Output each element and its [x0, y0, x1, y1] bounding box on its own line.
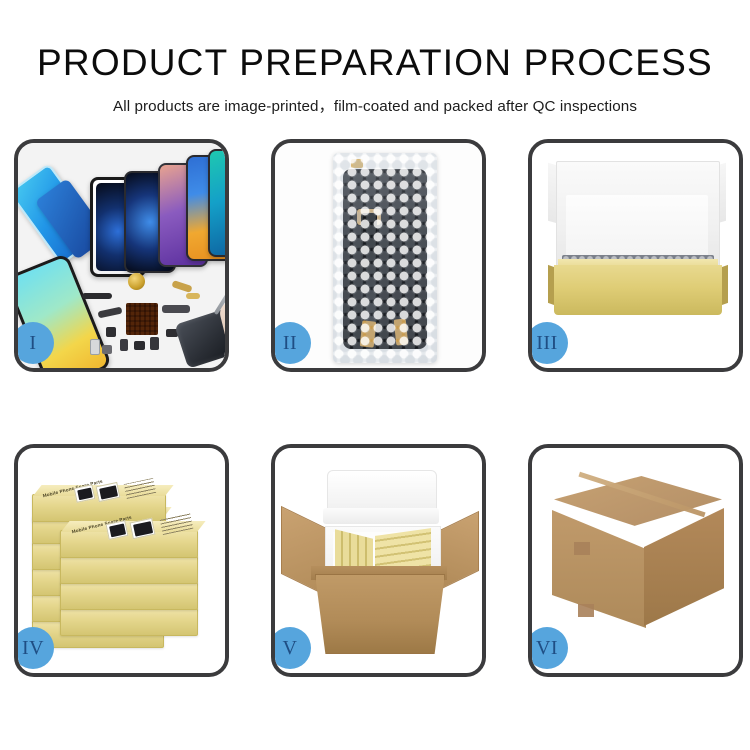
- carton-tape-upper: [574, 542, 590, 555]
- gold-component-icon: [128, 273, 145, 290]
- box-window-2: [96, 482, 121, 502]
- box-window-1: [74, 484, 96, 503]
- process-step-1[interactable]: I: [14, 139, 229, 372]
- step-badge-1: I: [14, 322, 54, 364]
- spare-parts-cluster: [76, 271, 225, 368]
- small-part-6-icon: [102, 345, 112, 354]
- gold-flex-2-icon: [186, 293, 200, 299]
- process-step-5[interactable]: V: [271, 444, 486, 677]
- gold-tab-2-icon: [394, 318, 409, 345]
- small-part-3-icon: [134, 341, 145, 350]
- process-step-2[interactable]: II: [271, 139, 486, 372]
- carton-front-face: [552, 510, 646, 628]
- small-part-1-icon: [106, 327, 116, 337]
- gold-tab-1-icon: [360, 320, 377, 347]
- phone-backplate-icon: [174, 307, 225, 368]
- label-tag-icon: [351, 159, 363, 168]
- foam-lid-edge: [323, 508, 439, 524]
- header: PRODUCT PREPARATION PROCESS All products…: [0, 0, 750, 116]
- stack-box-top-right: Mobile Phone Spare Parts: [60, 530, 198, 558]
- teal-phone-icon: [208, 149, 225, 257]
- stack-box-top-left: Mobile Phone Spare Parts: [32, 494, 166, 522]
- flex-cable-2-icon: [162, 305, 190, 313]
- connector-bar-icon: [82, 293, 112, 299]
- product-preparation-process-page: PRODUCT PREPARATION PROCESS All products…: [0, 0, 750, 750]
- box-window-1: [106, 520, 129, 540]
- process-step-3[interactable]: III: [528, 139, 743, 372]
- yellow-box-body: [554, 265, 722, 315]
- step-badge-6: VI: [528, 627, 568, 669]
- small-part-4-icon: [150, 337, 159, 350]
- box-window-2: [129, 518, 155, 539]
- step-badge-2: II: [271, 322, 311, 364]
- process-step-grid: I II: [14, 139, 736, 677]
- process-step-6[interactable]: VI: [528, 444, 743, 677]
- chip-grid-icon: [126, 303, 158, 335]
- flex-cable-icon: [98, 307, 123, 319]
- screen-flex-cable: [361, 213, 377, 323]
- lcd-screen: [343, 169, 427, 349]
- gold-flex-icon: [171, 280, 192, 293]
- sim-tray-icon: [90, 339, 100, 355]
- step-badge-5: V: [271, 627, 311, 669]
- page-subtitle: All products are image-printed，film-coat…: [0, 94, 750, 116]
- page-title: PRODUCT PREPARATION PROCESS: [0, 44, 750, 83]
- retail-box-stack: Mobile Phone Spare Parts Mobile Phone Sp…: [26, 472, 222, 658]
- stack-box: [60, 556, 198, 584]
- carton-side-face: [644, 508, 724, 626]
- stack-box: [60, 582, 198, 610]
- carton-body: [315, 574, 445, 654]
- stack-box: [60, 608, 198, 636]
- step-badge-3: III: [528, 322, 568, 364]
- process-step-4[interactable]: Mobile Phone Spare Parts Mobile Phone Sp…: [14, 444, 229, 677]
- carton-tape-lower: [578, 604, 594, 617]
- small-part-2-icon: [120, 339, 128, 351]
- bubble-wrap-bag: [333, 153, 437, 363]
- step-badge-4: IV: [14, 627, 54, 669]
